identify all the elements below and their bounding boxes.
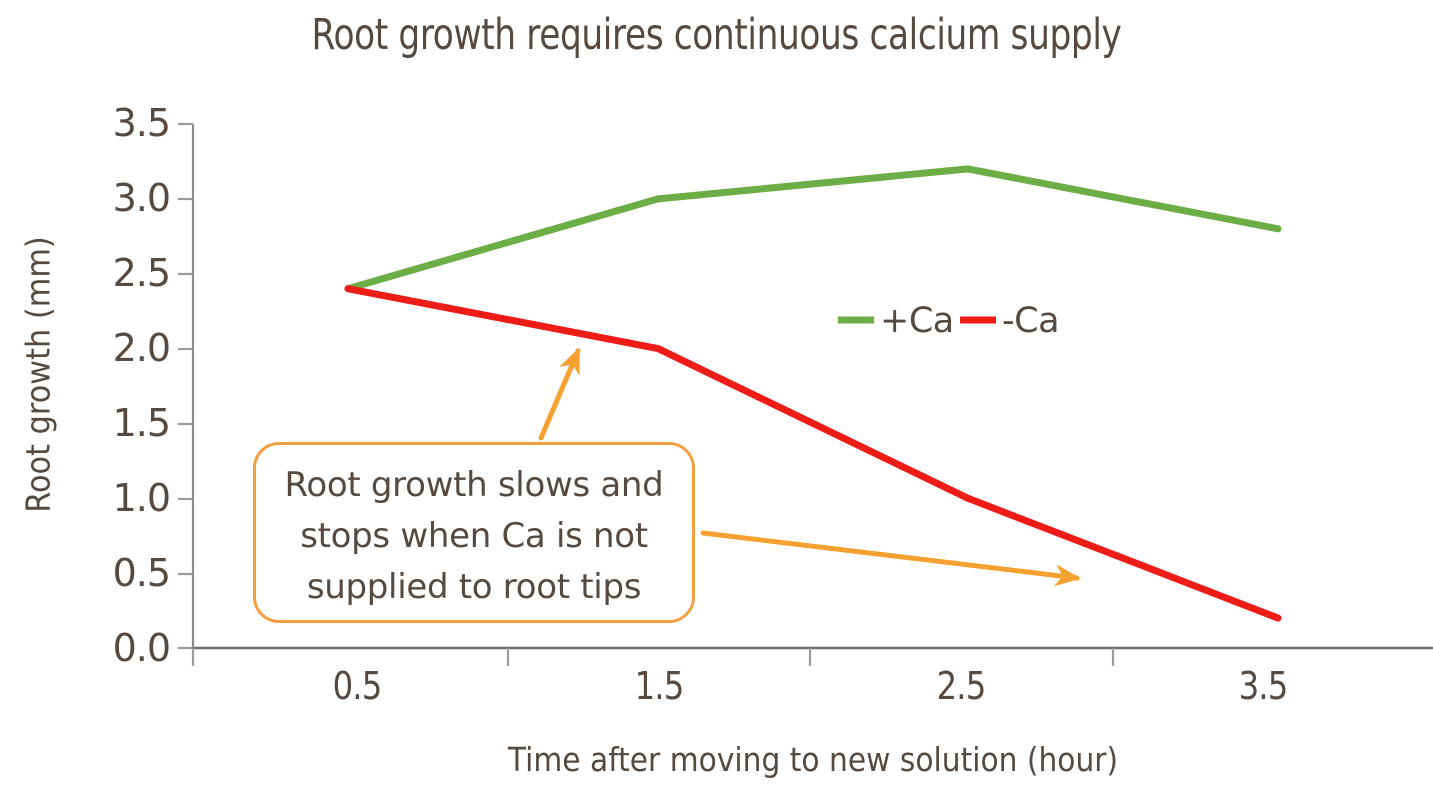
annotation-callout-text: Root growth slows and stops when Ca is n… [253, 460, 695, 613]
legend-label-minus-ca: -Ca [1002, 301, 1059, 341]
legend-label-plus-ca: +Ca [880, 301, 954, 341]
chart-figure: Root growth requires continuous calcium … [0, 0, 1433, 806]
plot-area [0, 0, 1433, 806]
callout-line-3: supplied to root tips [253, 562, 695, 613]
callout-line-2: stops when Ca is not [253, 511, 695, 562]
line-series-plus-ca [348, 169, 1278, 289]
y-tick-marks [178, 124, 193, 648]
x-tick-marks [193, 648, 1113, 666]
annotation-arrow-up [541, 351, 578, 438]
annotation-arrow-right [703, 533, 1077, 578]
callout-line-1: Root growth slows and [253, 460, 695, 511]
